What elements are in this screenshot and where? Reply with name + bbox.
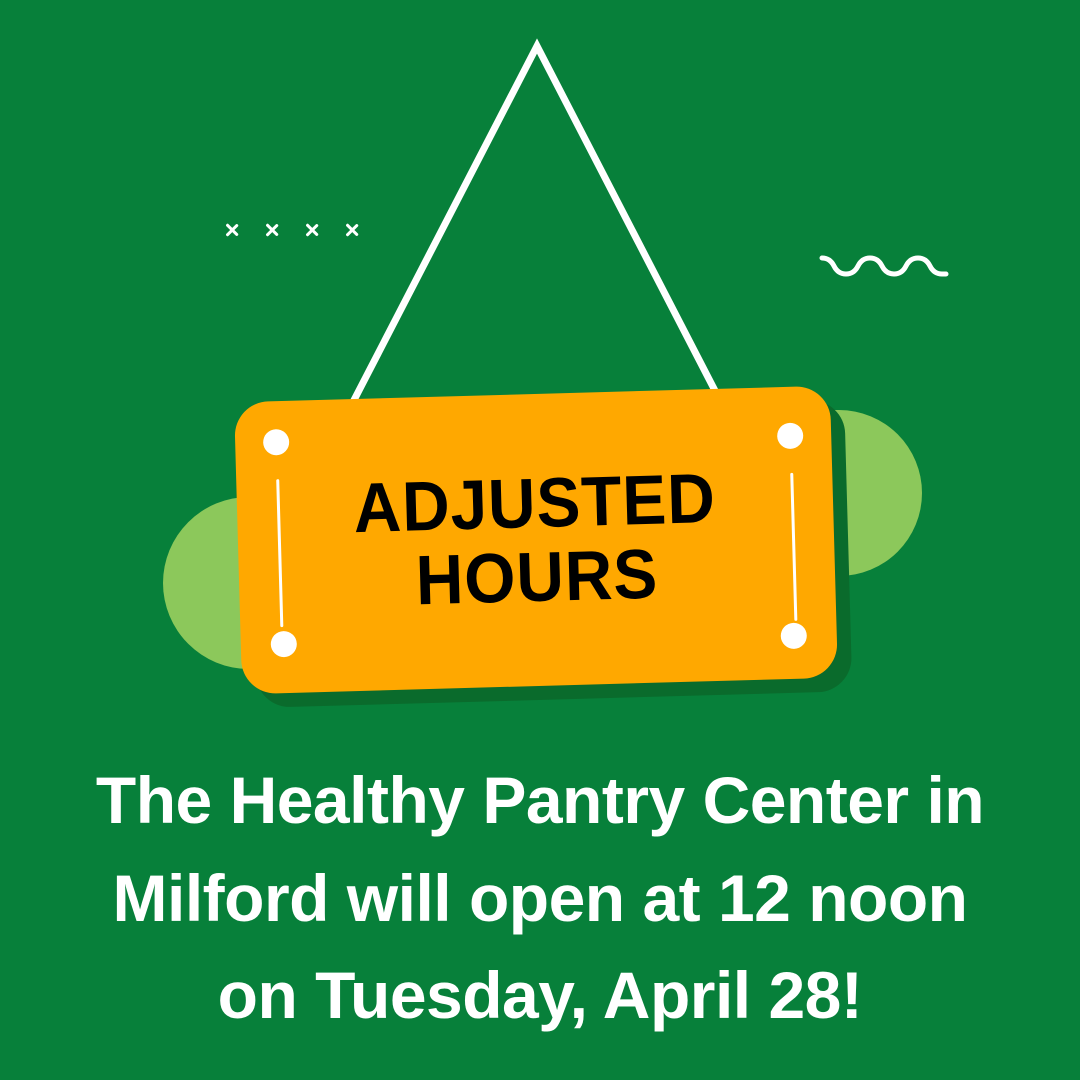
sign-title-line-1: ADJUSTED (353, 463, 717, 543)
x-mark-icon (344, 222, 360, 238)
headline-line-2: Milford will open at 12 noon (26, 850, 1054, 948)
sign-title-line-2: HOURS (415, 539, 659, 616)
x-mark-icon (304, 222, 320, 238)
x-mark-icon (224, 222, 240, 238)
x-mark-decoration-group (224, 222, 360, 238)
headline-line-3: on Tuesday, April 28! (26, 947, 1054, 1045)
squiggle-wave-icon (818, 246, 950, 280)
poster-canvas: ADJUSTED HOURS The Healthy Pantry Center… (0, 0, 1080, 1080)
x-mark-icon (264, 222, 280, 238)
sign-text-block: ADJUSTED HOURS (234, 386, 838, 695)
headline-message: The Healthy Pantry Center in Milford wil… (0, 752, 1080, 1045)
hanging-sign: ADJUSTED HOURS (234, 386, 838, 695)
headline-line-1: The Healthy Pantry Center in (26, 752, 1054, 850)
